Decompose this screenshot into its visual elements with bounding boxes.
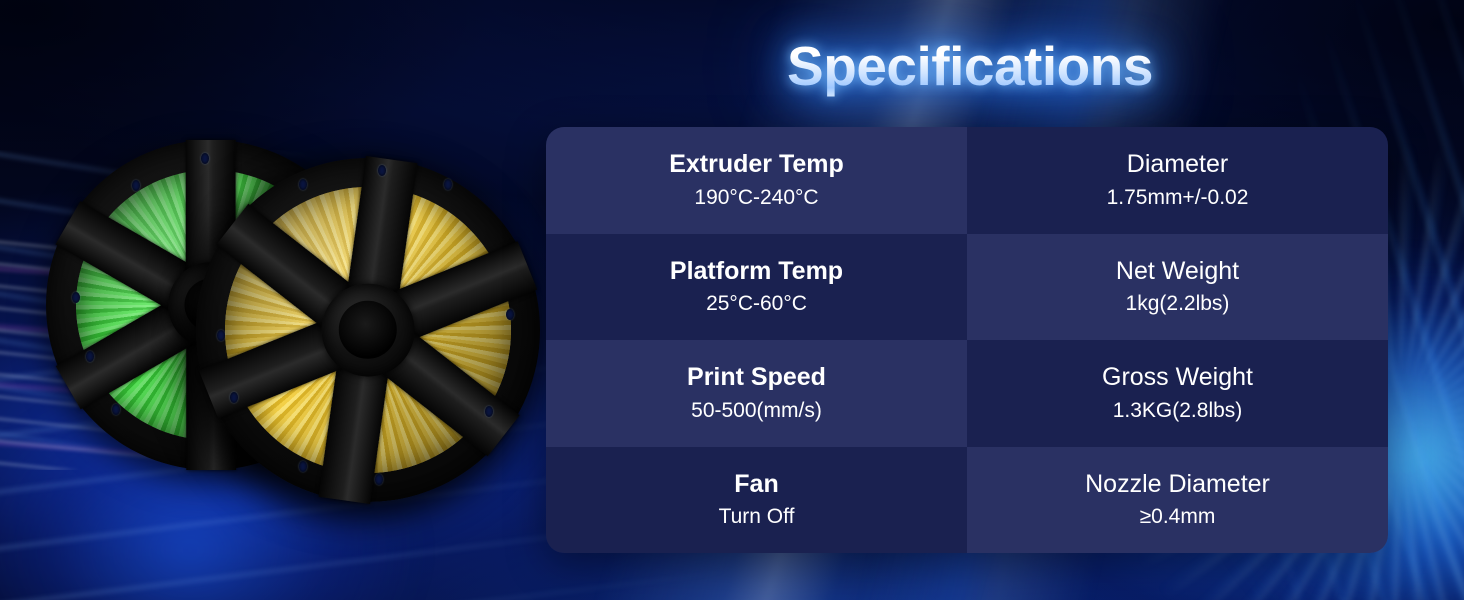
spec-label: Net Weight bbox=[1116, 258, 1239, 286]
spec-cell-nozzle-diameter: Nozzle Diameter ≥0.4mm bbox=[967, 447, 1388, 554]
spec-cell-gross-weight: Gross Weight 1.3KG(2.8lbs) bbox=[967, 340, 1388, 447]
spec-value: 1kg(2.2lbs) bbox=[1126, 292, 1230, 315]
spec-cell-print-speed: Print Speed 50-500(mm/s) bbox=[546, 340, 967, 447]
yellow-spool-center-hole bbox=[339, 301, 397, 359]
page-title: Specifications bbox=[760, 34, 1180, 98]
spec-label: Diameter bbox=[1127, 151, 1228, 179]
spec-label: Nozzle Diameter bbox=[1085, 471, 1270, 499]
spec-value: 25°C-60°C bbox=[706, 292, 807, 315]
spec-label: Platform Temp bbox=[670, 258, 843, 286]
spec-label: Fan bbox=[734, 471, 778, 499]
spec-label: Extruder Temp bbox=[669, 151, 844, 179]
spec-value: 1.3KG(2.8lbs) bbox=[1113, 399, 1243, 422]
spec-cell-extruder-temp: Extruder Temp 190°C-240°C bbox=[546, 127, 967, 234]
spec-cell-platform-temp: Platform Temp 25°C-60°C bbox=[546, 234, 967, 341]
product-image bbox=[28, 118, 548, 528]
spec-label: Gross Weight bbox=[1102, 364, 1253, 392]
spec-label: Print Speed bbox=[687, 364, 826, 392]
spec-value: 190°C-240°C bbox=[694, 186, 818, 209]
yellow-filament-spool bbox=[196, 158, 540, 502]
specifications-card: Extruder Temp 190°C-240°C Diameter 1.75m… bbox=[546, 127, 1388, 553]
spec-cell-fan: Fan Turn Off bbox=[546, 447, 967, 554]
spec-value: 50-500(mm/s) bbox=[691, 399, 822, 422]
spec-cell-net-weight: Net Weight 1kg(2.2lbs) bbox=[967, 234, 1388, 341]
spec-value: Turn Off bbox=[719, 505, 795, 528]
yellow-spool-hub bbox=[322, 284, 415, 377]
spec-value: ≥0.4mm bbox=[1140, 505, 1216, 528]
product-spec-banner: Specifications Extruder Temp 190°C-240°C… bbox=[0, 0, 1464, 600]
spec-value: 1.75mm+/-0.02 bbox=[1107, 186, 1249, 209]
spec-cell-diameter: Diameter 1.75mm+/-0.02 bbox=[967, 127, 1388, 234]
